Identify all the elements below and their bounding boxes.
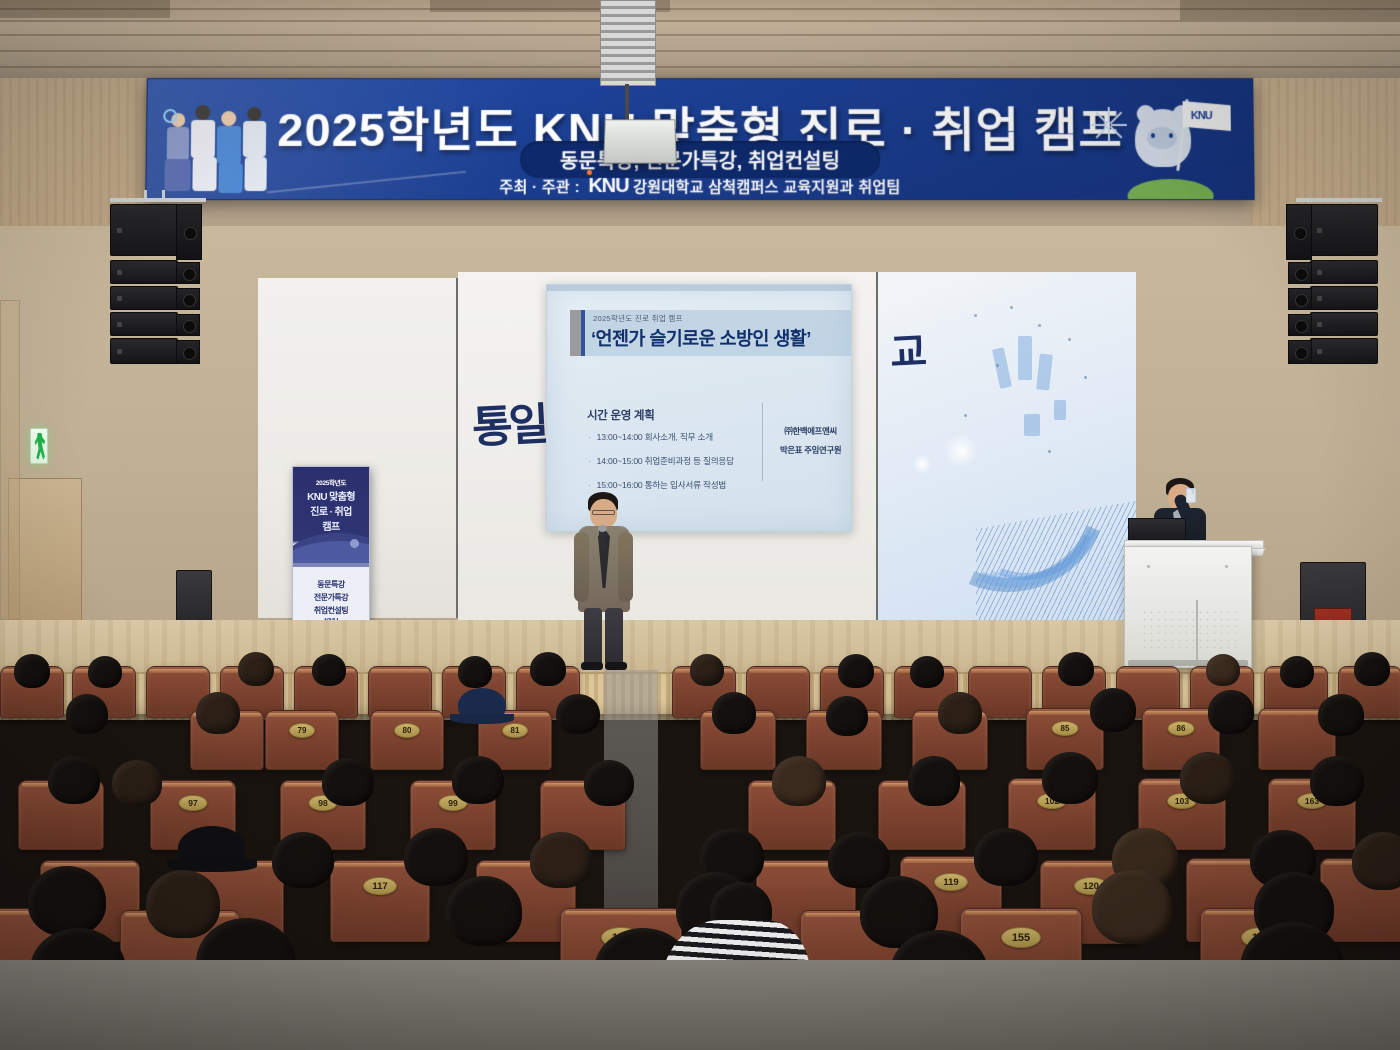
slide-bullet-item: ·14:00~15:00 취업준비과정 등 질의응답: [588, 455, 734, 467]
seat-number-badge: 79: [289, 723, 315, 738]
presenter-name: 박은표 주임연구원: [780, 444, 841, 456]
audience-cap: [458, 688, 506, 722]
audience-head: [838, 654, 874, 688]
slide-vertical-divider: [762, 403, 763, 481]
audience-head: [530, 652, 566, 686]
slide-accent-bar-gray: [570, 310, 581, 356]
calligraphy-left: 통일: [470, 388, 546, 456]
glasses-icon: [592, 510, 615, 515]
standing-banner-line2: 진로 · 취업: [293, 503, 369, 518]
backdrop-panel-right: 교: [876, 272, 1136, 624]
audience-head: [88, 656, 122, 688]
slide-presenter-block: ㈜한백에프앤씨 박은표 주임연구원: [780, 425, 841, 463]
speaker-arm-right: [618, 532, 633, 602]
ceiling-projector: [603, 119, 677, 163]
audience-head: [196, 692, 240, 734]
seat-number-badge: 81: [502, 723, 528, 738]
audience-head: [530, 832, 592, 888]
banner-host-line: 주최 · 주관 : KNU 강원대학교 삼척캠퍼스 교육지원과 취업팀: [146, 175, 1254, 198]
ceiling: [0, 0, 1400, 80]
seat-number-badge: 155: [1001, 927, 1041, 948]
microphone-head-icon: [598, 525, 607, 532]
audience-head: [48, 756, 100, 804]
audience-head: [272, 832, 334, 888]
bear-flag-label: KNU: [1191, 110, 1212, 122]
front-floor: [0, 960, 1400, 1050]
audience-head: [910, 656, 944, 688]
banner-mascot-bear: KNU: [1125, 93, 1236, 193]
speaker-leg-right: [605, 608, 623, 666]
audience-head: [974, 828, 1038, 886]
slide-bullet-item: ·13:00~14:00 회사소개, 직무 소개: [588, 431, 734, 443]
seat-number-badge: 119: [934, 873, 968, 891]
audience-head: [452, 756, 504, 804]
audience-head: [446, 876, 522, 946]
seat-number-badge: 86: [1168, 721, 1195, 736]
audience-head: [238, 652, 274, 686]
audience-head: [14, 654, 50, 688]
audience-head: [772, 756, 826, 806]
audience-head: [1180, 752, 1236, 804]
slide-bullet-text: 13:00~14:00 회사소개, 직무 소개: [597, 432, 713, 442]
audience-head: [584, 760, 634, 806]
slide-section-heading: 시간 운영 계획: [587, 407, 654, 423]
slide-title: ‘언젠가 슬기로운 소방인 생활’: [591, 325, 811, 351]
audience-head: [690, 654, 724, 686]
audience-head: [1208, 690, 1254, 734]
podium-support-leg: [1196, 600, 1198, 662]
line-array-speaker-left: [106, 198, 224, 370]
audience-head: [826, 696, 868, 736]
emergency-exit-sign: [30, 428, 48, 464]
audience-cap: [178, 826, 246, 870]
banner-host-brand: KNU: [584, 175, 628, 197]
bullet-marker-icon: ·: [588, 480, 591, 490]
projector-lift-mount: [600, 0, 656, 86]
water-cup-icon: [1186, 488, 1196, 503]
calligraphy-right: 교: [889, 319, 929, 379]
audience-head: [712, 692, 756, 734]
audience-head: [322, 758, 374, 806]
standing-banner-line3: 캠프: [293, 518, 369, 533]
audience-head: [1206, 654, 1240, 686]
slide-kicker: 2025학년도 진로 취업 캠프: [593, 313, 683, 324]
wall-strip-left: [0, 300, 20, 620]
auditorium-scene: 2025학년도 KNU 맞춤형 진로 · 취업 캠프 동문특강, 전문가특강, …: [0, 0, 1400, 1050]
standing-banner-feature: 전문가특강: [293, 592, 369, 603]
audience-head: [458, 656, 492, 688]
bullet-marker-icon: ·: [588, 432, 591, 442]
audience-head: [1352, 832, 1400, 890]
seat-80[interactable]: 80: [370, 710, 444, 770]
audience-head: [1318, 694, 1364, 736]
slide-accent-bar-blue: [581, 310, 585, 356]
audience-head: [1090, 688, 1136, 732]
standing-banner-line1: KNU 맞춤형: [293, 488, 369, 503]
seat-number-badge: 80: [394, 723, 420, 738]
seat-number-badge: 85: [1052, 721, 1079, 736]
slide-bullet-text: 15:00~16:00 통하는 입사서류 작성법: [597, 480, 726, 490]
bullet-marker-icon: ·: [588, 456, 591, 466]
audience-head: [404, 828, 468, 886]
audience-head: [312, 654, 346, 686]
seat-number-badge: 117: [363, 877, 397, 895]
banner-host-prefix: 주최 · 주관 :: [499, 179, 580, 196]
audience-head: [1042, 752, 1098, 804]
event-banner: 2025학년도 KNU 맞춤형 진로 · 취업 캠프 동문특강, 전문가특강, …: [145, 78, 1255, 200]
banner-subtitle: 동문특강, 전문가특강, 취업컨설팅: [520, 141, 880, 178]
slide-bullet-item: ·15:00~16:00 통하는 입사서류 작성법: [588, 479, 734, 491]
speaker-leg-left: [584, 608, 602, 666]
presenting-speaker: [572, 492, 636, 674]
podium-vent-pattern: [1141, 609, 1237, 649]
sparkle-icon: [1091, 107, 1127, 143]
presenter-company: ㈜한백에프앤씨: [780, 425, 841, 437]
line-array-speaker-right: [1292, 198, 1400, 370]
running-person-icon: [34, 433, 46, 461]
audience-head: [66, 694, 108, 734]
audience-head: [28, 866, 106, 936]
banner-host-org: 강원대학교 삼척캠퍼스 교육지원과 취업팀: [633, 179, 901, 196]
audience-head: [146, 870, 220, 938]
standing-banner-feature: 동문특강: [293, 579, 369, 590]
audience-head: [1280, 656, 1314, 688]
seat-number-badge: 97: [179, 795, 208, 811]
slide-bullet-text: 14:00~15:00 취업준비과정 등 질의응답: [597, 456, 734, 466]
audience-head: [112, 760, 162, 806]
audience-head: [1058, 652, 1094, 686]
audience-head: [1092, 870, 1172, 944]
audience-head: [556, 694, 600, 734]
audience-head: [908, 756, 960, 806]
standing-banner-feature: 취업컨설팅: [293, 605, 369, 616]
podium-lectern: [1124, 546, 1252, 668]
speaker-arm-left: [574, 532, 589, 602]
seat-79[interactable]: 79: [265, 710, 339, 770]
audience-head: [1354, 652, 1390, 686]
audience-head: [938, 692, 982, 734]
standing-banner-year: 2025학년도: [293, 477, 369, 487]
audience-head: [1310, 756, 1364, 806]
